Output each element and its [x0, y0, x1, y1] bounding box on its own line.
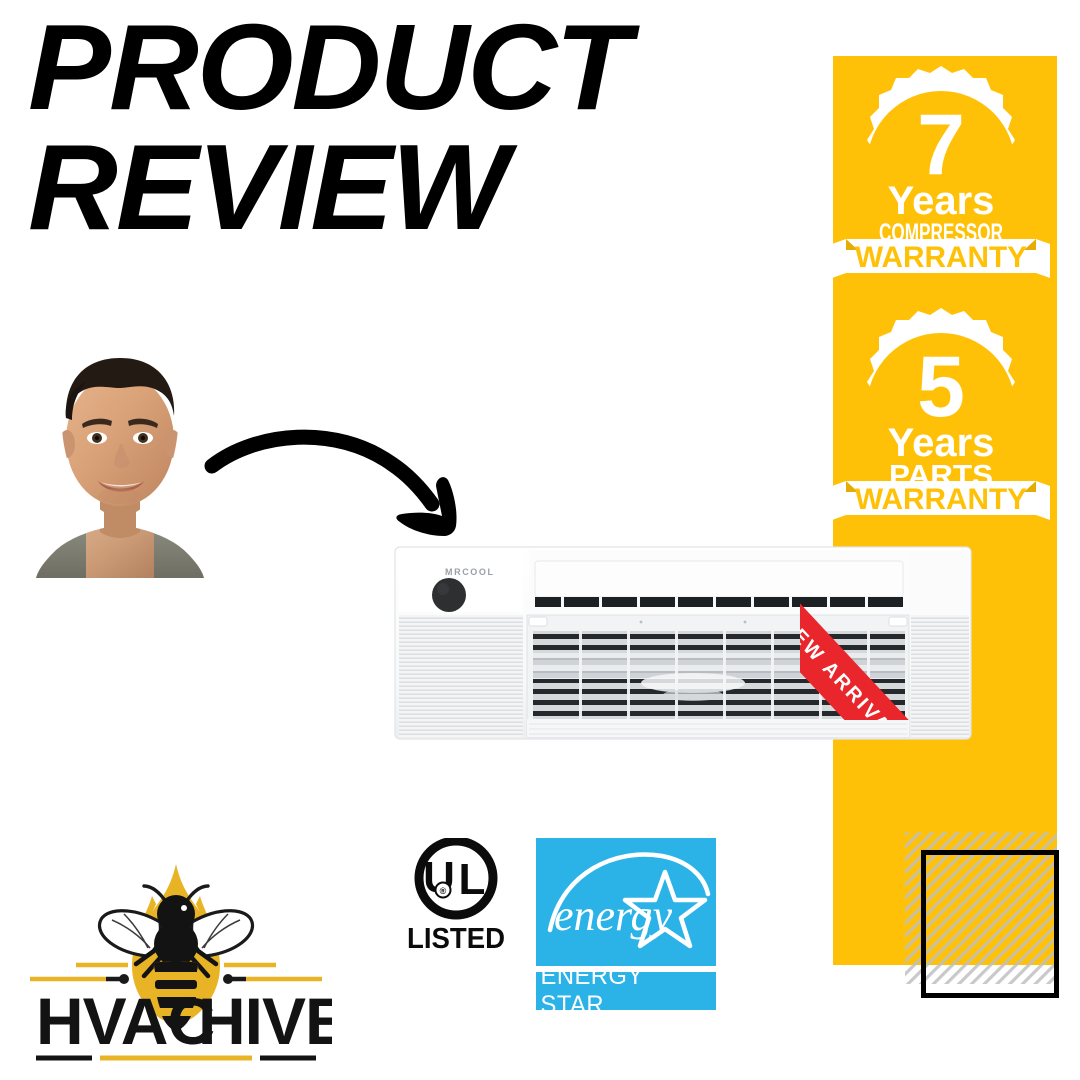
title-line-2: REVIEW	[28, 128, 742, 248]
warranty-badge-compressor: 7 Years COMPRESSOR WARRANTY	[828, 58, 1054, 284]
energy-star-caption: ENERGY STAR	[541, 962, 712, 1020]
product-brand-text: MRCOOL	[445, 567, 495, 577]
energy-star-icon: energy ENERGY STAR	[536, 838, 716, 1010]
energy-star-caption-bar: ENERGY STAR	[536, 972, 716, 1010]
badge-years-label: Years	[888, 421, 995, 465]
title-line-1: PRODUCT	[28, 8, 742, 128]
energy-star-mark: energy	[536, 838, 716, 966]
ul-mark-l: L	[459, 855, 486, 904]
brand-name-part1: HVAC	[36, 984, 214, 1058]
ul-caption: LISTED	[407, 923, 505, 955]
poster-canvas: PRODUCT REVIEW	[0, 0, 1080, 1080]
registered-mark: ®	[440, 886, 447, 896]
warranty-badge-parts: 5 Years PARTS WARRANTY	[828, 300, 1054, 526]
page-title: PRODUCT REVIEW	[28, 8, 728, 247]
brand-logo: HVAC HIVE	[20, 852, 332, 1064]
pointer-arrow-icon	[196, 408, 496, 548]
badge-ribbon-label: WARRANTY	[855, 241, 1027, 274]
energy-script-word: energy	[554, 891, 673, 940]
brand-name-part2: HIVE	[198, 984, 332, 1058]
avatar	[24, 336, 216, 578]
ul-listed-icon: U L ® LISTED	[398, 838, 516, 956]
badge-ribbon-label: WARRANTY	[855, 483, 1027, 516]
decorative-outline-square	[921, 850, 1059, 998]
product-image: MRCOOL	[393, 543, 973, 743]
badge-years-label: Years	[888, 179, 995, 223]
